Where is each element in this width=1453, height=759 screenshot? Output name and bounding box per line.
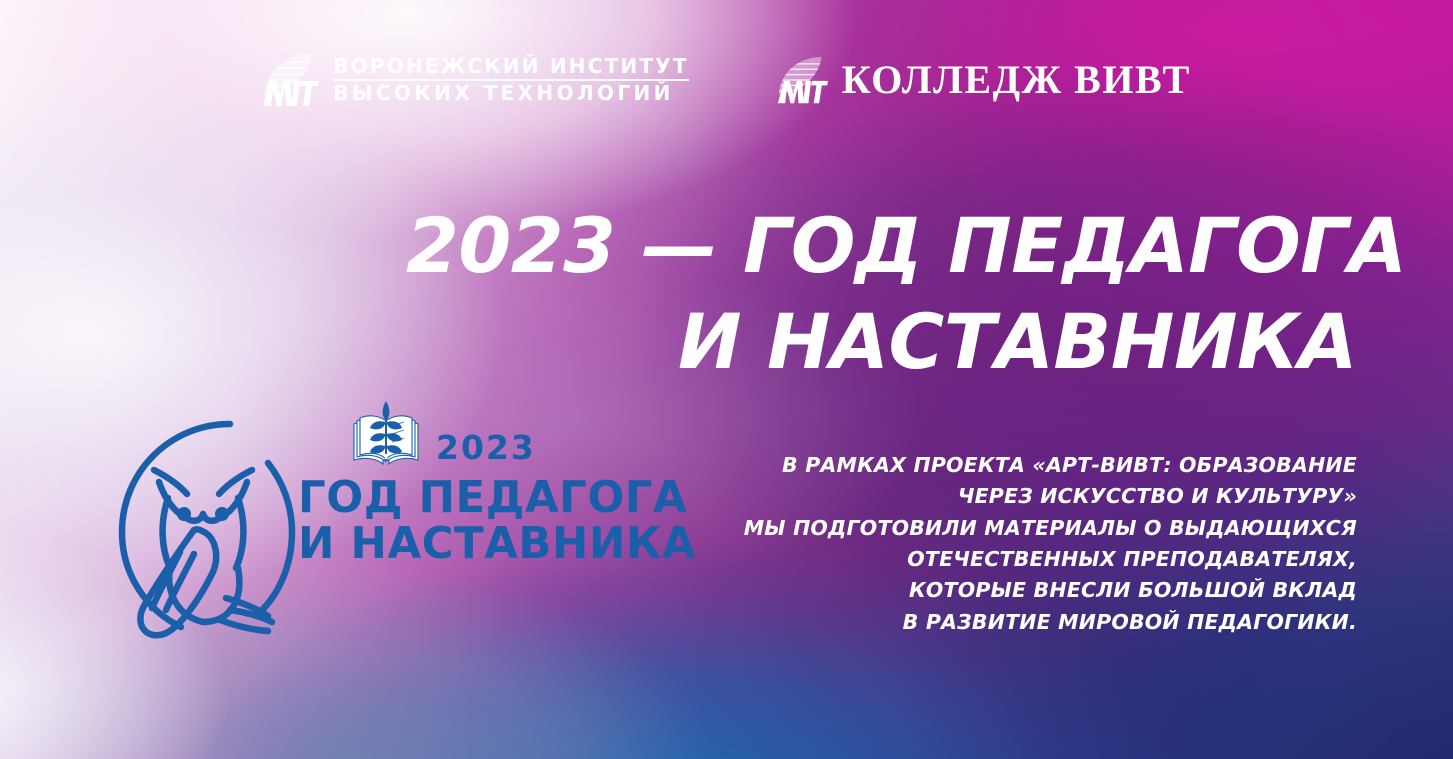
description-line-2: ЧЕРЕЗ ИСКУССТВО И КУЛЬТУРУ» [667,481,1357,512]
description-line-6: В РАЗВИТИЕ МИРОВОЙ ПЕДАГОГИКИ. [667,607,1357,638]
vivt-monogram-icon [777,54,829,106]
owl-in-circle-icon [108,402,304,647]
description-line-4: ОТЕЧЕСТВЕННЫХ ПРЕПОДАВАТЕЛЯХ, [667,544,1357,575]
poster-root: ВОРОНЕЖСКИЙ ИНСТИТУТ ВЫСОКИХ ТЕХНОЛОГИЙ [0,0,1453,759]
page-title-line1: 2023 — ГОД ПЕДАГОГА [340,198,1357,294]
open-book-with-wheat-icon [350,398,422,470]
logo-voronezh-institute[interactable]: ВОРОНЕЖСКИЙ ИНСТИТУТ ВЫСОКИХ ТЕХНОЛОГИЙ [262,52,689,108]
emblem-text-block: 2023 ГОД ПЕДАГОГА И НАСТАВНИКА [298,398,696,567]
year-of-teacher-emblem: 2023 ГОД ПЕДАГОГА И НАСТАВНИКА [108,398,668,643]
description-line-5: КОТОРЫЕ ВНЕСЛИ БОЛЬШОЙ ВКЛАД [667,575,1357,606]
page-title: 2023 — ГОД ПЕДАГОГА И НАСТАВНИКА [340,198,1357,390]
institute-name-line1: ВОРОНЕЖСКИЙ ИНСТИТУТ [333,56,689,81]
logo-college-vivt[interactable]: КОЛЛЕДЖ ВИВТ [777,54,1191,106]
description-line-3: МЫ ПОДГОТОВИЛИ МАТЕРИАЛЫ О ВЫДАЮЩИХСЯ [667,513,1357,544]
page-title-line2: И НАСТАВНИКА [340,294,1357,390]
college-name: КОЛЛЕДЖ ВИВТ [842,60,1191,100]
description-paragraph: В РАМКАХ ПРОЕКТА «АРТ-ВИВТ: ОБРАЗОВАНИЕ … [667,450,1357,638]
emblem-title-line1: ГОД ПЕДАГОГА [298,475,696,521]
institute-name: ВОРОНЕЖСКИЙ ИНСТИТУТ ВЫСОКИХ ТЕХНОЛОГИЙ [333,56,689,104]
institute-name-line2: ВЫСОКИХ ТЕХНОЛОГИЙ [333,81,689,104]
emblem-title: ГОД ПЕДАГОГА И НАСТАВНИКА [298,475,696,567]
vivt-monogram-icon [262,52,320,108]
emblem-top-row: 2023 [350,398,696,470]
header-logo-row: ВОРОНЕЖСКИЙ ИНСТИТУТ ВЫСОКИХ ТЕХНОЛОГИЙ [0,52,1453,108]
emblem-title-line2: И НАСТАВНИКА [298,521,696,567]
description-line-1: В РАМКАХ ПРОЕКТА «АРТ-ВИВТ: ОБРАЗОВАНИЕ [667,450,1357,481]
emblem-year: 2023 [436,431,536,470]
